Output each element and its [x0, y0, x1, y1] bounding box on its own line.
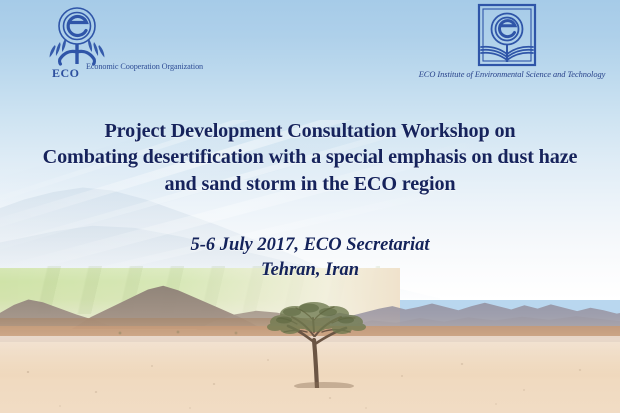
eco-institute-emblem-icon: [466, 2, 548, 72]
event-details: 5-6 July 2017, ECO Secretariat Tehran, I…: [0, 233, 620, 283]
eco-institute-caption: ECO Institute of Environmental Science a…: [404, 70, 620, 79]
eco-abbreviation: ECO: [52, 66, 80, 81]
title-line-2: Combating desertification with a special…: [0, 144, 620, 170]
title-line-3: and sand storm in the ECO region: [0, 171, 620, 197]
lone-tree: [262, 296, 372, 388]
poster-title: Project Development Consultation Worksho…: [0, 118, 620, 197]
eco-institute-logo: ECO Institute of Environmental Science a…: [404, 2, 620, 88]
title-line-1: Project Development Consultation Worksho…: [0, 118, 620, 144]
eco-logo: ECO Economic Cooperation Organization: [40, 6, 215, 84]
event-date-venue: 5-6 July 2017, ECO Secretariat: [0, 233, 620, 258]
eco-full-name: Economic Cooperation Organization: [86, 62, 203, 71]
poster-canvas: ECO Economic Cooperation Organization: [0, 0, 620, 413]
event-location: Tehran, Iran: [0, 258, 620, 283]
eco-emblem-icon: [46, 6, 108, 68]
